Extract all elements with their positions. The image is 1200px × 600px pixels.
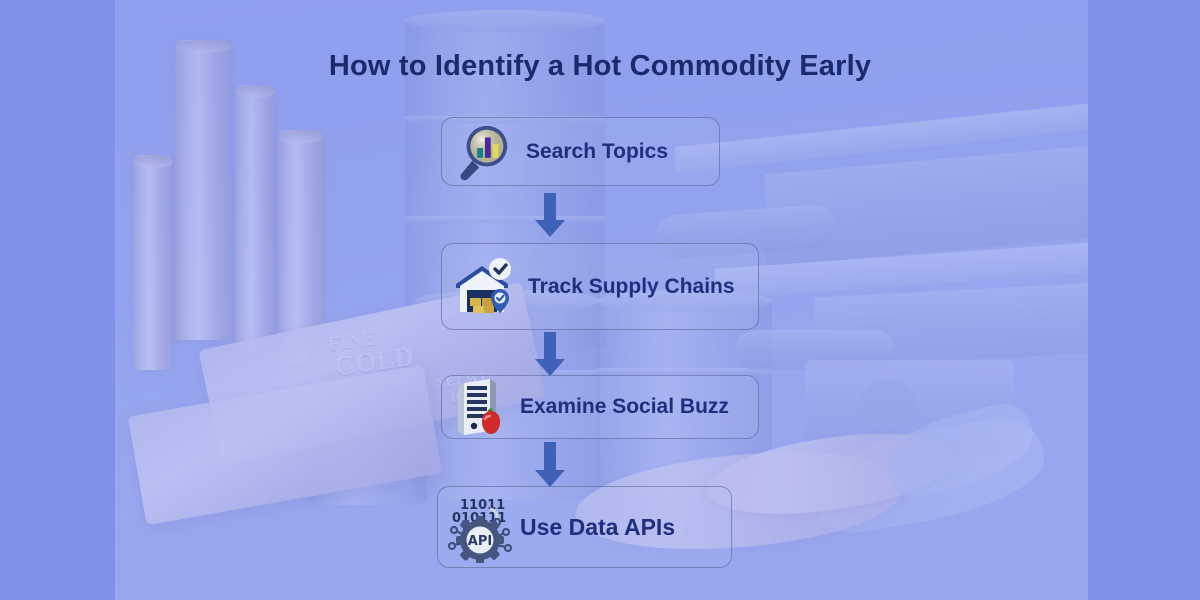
step-box-1[interactable]: Search Topics xyxy=(441,117,720,186)
magnifier-bar-chart-icon xyxy=(452,121,514,183)
api-gear-icon: 11011 010111 xyxy=(444,493,516,563)
copper-pipe xyxy=(235,85,275,350)
copper-pipe xyxy=(175,40,231,340)
step-label-2: Track Supply Chains xyxy=(528,275,735,299)
step-box-4[interactable]: 11011 010111 xyxy=(437,486,732,568)
step-box-2[interactable]: Track Supply Chains xyxy=(441,243,759,330)
step-label-4: Use Data APIs xyxy=(520,514,675,541)
server-apple-icon xyxy=(452,375,516,439)
arrow-step1-to-step2 xyxy=(535,193,565,237)
svg-text:API: API xyxy=(468,534,492,549)
step-label-1: Search Topics xyxy=(526,140,668,164)
page-title: How to Identify a Hot Commodity Early xyxy=(0,50,1200,83)
warehouse-check-location-icon xyxy=(450,254,518,322)
arrow-step3-to-step4 xyxy=(535,442,565,488)
step-label-3: Examine Social Buzz xyxy=(520,395,729,419)
infographic-canvas: FINE GOLD 999.9 NET WT 1000 g How to Ide… xyxy=(0,0,1200,600)
copper-pipe xyxy=(133,155,173,370)
arrow-step2-to-step3 xyxy=(535,332,565,376)
step-box-3[interactable]: Examine Social Buzz xyxy=(441,375,759,439)
